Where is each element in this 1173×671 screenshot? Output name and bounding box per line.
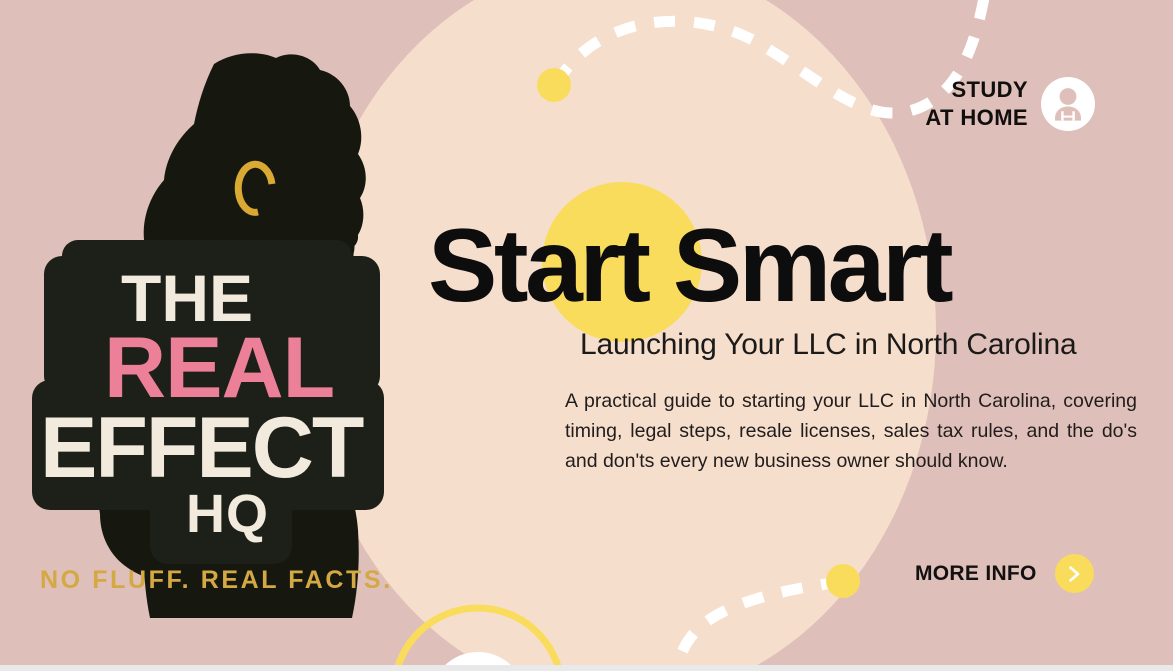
logo-wordmark: THE REAL EFFECT HQ	[36, 268, 406, 540]
yellow-dot-top	[537, 68, 571, 102]
person-avatar-icon	[1041, 77, 1095, 131]
slide-canvas: THE REAL EFFECT HQ NO FLUFF. REAL FACTS.…	[0, 0, 1173, 671]
logo-line-hq: HQ	[186, 489, 406, 539]
brand-logo-group: THE REAL EFFECT HQ NO FLUFF. REAL FACTS.	[0, 0, 470, 671]
more-info-button[interactable]: MORE INFO	[915, 554, 1094, 593]
logo-line-real: REAL	[104, 329, 406, 409]
chevron-right-icon	[1064, 564, 1084, 584]
study-at-home-badge: STUDY AT HOME	[925, 76, 1095, 131]
page-title: Start Smart	[428, 219, 1108, 315]
study-line-2: AT HOME	[925, 104, 1028, 132]
page-subtitle: Launching Your LLC in North Carolina	[580, 328, 1110, 362]
study-line-1: STUDY	[925, 76, 1028, 104]
study-at-home-label: STUDY AT HOME	[925, 76, 1028, 131]
logo-line-effect: EFFECT	[40, 409, 406, 489]
more-info-arrow-circle[interactable]	[1055, 554, 1094, 593]
more-info-label: MORE INFO	[915, 562, 1037, 586]
yellow-dot-bottom	[826, 564, 860, 598]
page-description: A practical guide to starting your LLC i…	[565, 386, 1137, 477]
bottom-strip	[0, 665, 1173, 671]
logo-tagline: NO FLUFF. REAL FACTS.	[40, 566, 393, 595]
